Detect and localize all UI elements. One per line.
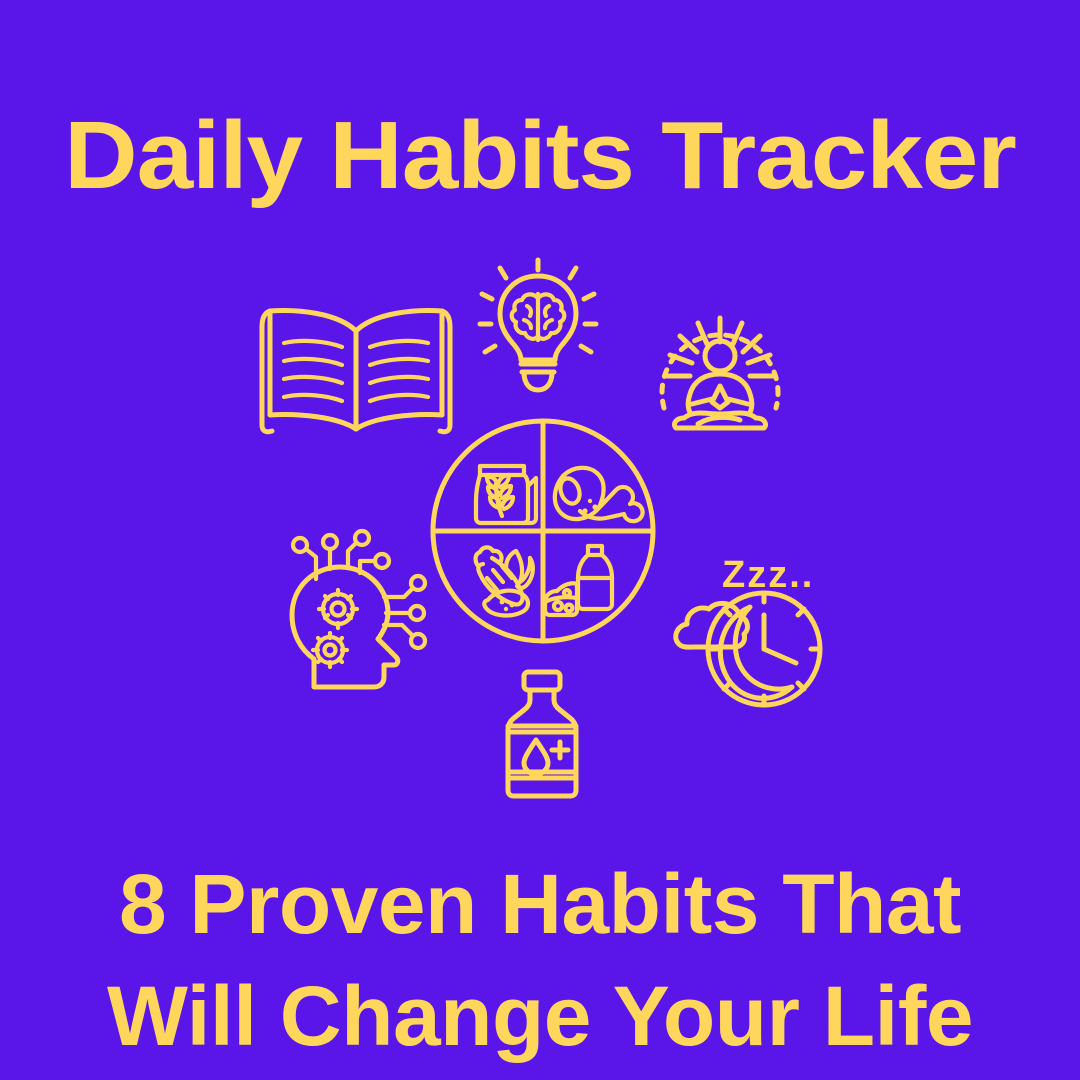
open-book-icon: [258, 303, 454, 435]
zzz-label: Zzz..: [722, 556, 814, 594]
subtitle-line-2: Will Change Your Life: [0, 960, 1080, 1072]
subtitle-line-1: 8 Proven Habits That: [0, 848, 1080, 960]
lightbulb-brain-icon: [478, 258, 598, 398]
head-gears-icon: [278, 533, 438, 691]
balanced-plate-icon: [430, 418, 656, 644]
poster-canvas: Daily Habits Tracker: [0, 0, 1080, 1080]
page-subtitle: 8 Proven Habits That Will Change Your Li…: [0, 848, 1080, 1072]
water-bottle-icon: [500, 668, 584, 808]
meditation-icon: [650, 298, 790, 432]
